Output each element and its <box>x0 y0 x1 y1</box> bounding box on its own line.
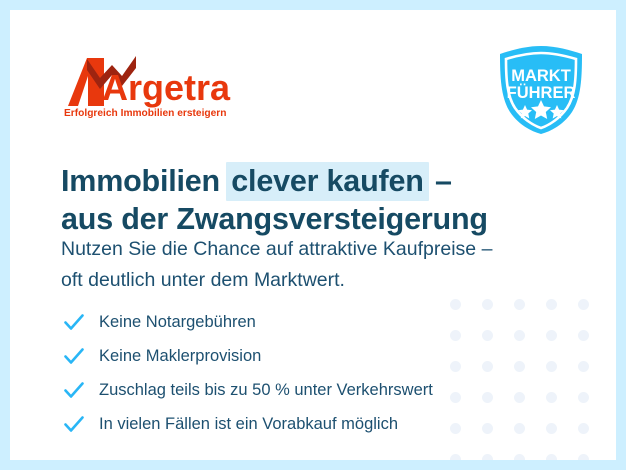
check-icon <box>63 345 85 367</box>
promo-banner: Argetra Erfolgreich Immobilien ersteiger… <box>0 0 626 470</box>
argetra-logo: Argetra Erfolgreich Immobilien ersteiger… <box>60 48 260 123</box>
list-item: Keine Maklerprovision <box>63 341 433 371</box>
headline-line1-before: Immobilien <box>61 164 220 198</box>
market-leader-badge: MARKT FÜHRER <box>494 44 588 136</box>
decorative-dot <box>578 299 589 310</box>
headline: Immobilien clever kaufen – aus der Zwang… <box>61 162 488 238</box>
decorative-dot <box>514 361 525 372</box>
decorative-dot <box>514 454 525 460</box>
decorative-dot <box>450 392 461 403</box>
check-icon <box>63 311 85 333</box>
decorative-dot <box>578 330 589 341</box>
decorative-dot <box>578 423 589 434</box>
decorative-dot <box>578 454 589 460</box>
badge-line1: MARKT <box>511 67 571 85</box>
decorative-dot <box>450 423 461 434</box>
decorative-dot <box>482 330 493 341</box>
benefit-label: Keine Notargebühren <box>99 313 256 332</box>
check-icon <box>63 379 85 401</box>
benefit-label: Zuschlag teils bis zu 50 % unter Verkehr… <box>99 381 433 400</box>
decorative-dot <box>514 299 525 310</box>
decorative-dot <box>546 330 557 341</box>
decorative-dot <box>450 454 461 460</box>
logo-tagline: Erfolgreich Immobilien ersteigern <box>64 108 226 119</box>
headline-line1-after: – <box>435 164 452 198</box>
decorative-dot-grid <box>450 299 610 460</box>
subheadline-line-2: oft deutlich unter dem Marktwert. <box>61 265 492 296</box>
list-item: In vielen Fällen ist ein Vorabkauf mögli… <box>63 409 433 439</box>
headline-highlight: clever kaufen <box>226 162 428 201</box>
decorative-dot <box>546 299 557 310</box>
banner-card: Argetra Erfolgreich Immobilien ersteiger… <box>10 10 616 460</box>
benefit-label: In vielen Fällen ist ein Vorabkauf mögli… <box>99 415 398 434</box>
decorative-dot <box>450 299 461 310</box>
headline-line-1: Immobilien clever kaufen – <box>61 162 488 200</box>
decorative-dot <box>514 330 525 341</box>
decorative-dot <box>482 299 493 310</box>
decorative-dot <box>546 423 557 434</box>
decorative-dot <box>482 361 493 372</box>
decorative-dot <box>546 392 557 403</box>
logo-wordmark: Argetra <box>102 67 231 108</box>
decorative-dot <box>546 454 557 460</box>
decorative-dot <box>578 361 589 372</box>
decorative-dot <box>514 392 525 403</box>
benefits-list: Keine Notargebühren Keine Maklerprovisio… <box>63 307 433 443</box>
decorative-dot <box>482 423 493 434</box>
benefit-label: Keine Maklerprovision <box>99 347 261 366</box>
decorative-dot <box>546 361 557 372</box>
badge-line2: FÜHRER <box>507 83 576 102</box>
list-item: Zuschlag teils bis zu 50 % unter Verkehr… <box>63 375 433 405</box>
list-item: Keine Notargebühren <box>63 307 433 337</box>
decorative-dot <box>482 392 493 403</box>
subheadline: Nutzen Sie die Chance auf attraktive Kau… <box>61 234 492 296</box>
decorative-dot <box>514 423 525 434</box>
decorative-dot <box>578 392 589 403</box>
subheadline-line-1: Nutzen Sie die Chance auf attraktive Kau… <box>61 234 492 265</box>
decorative-dot <box>450 330 461 341</box>
decorative-dot <box>482 454 493 460</box>
headline-line-2: aus der Zwangsversteigerung <box>61 200 488 238</box>
decorative-dot <box>450 361 461 372</box>
check-icon <box>63 413 85 435</box>
